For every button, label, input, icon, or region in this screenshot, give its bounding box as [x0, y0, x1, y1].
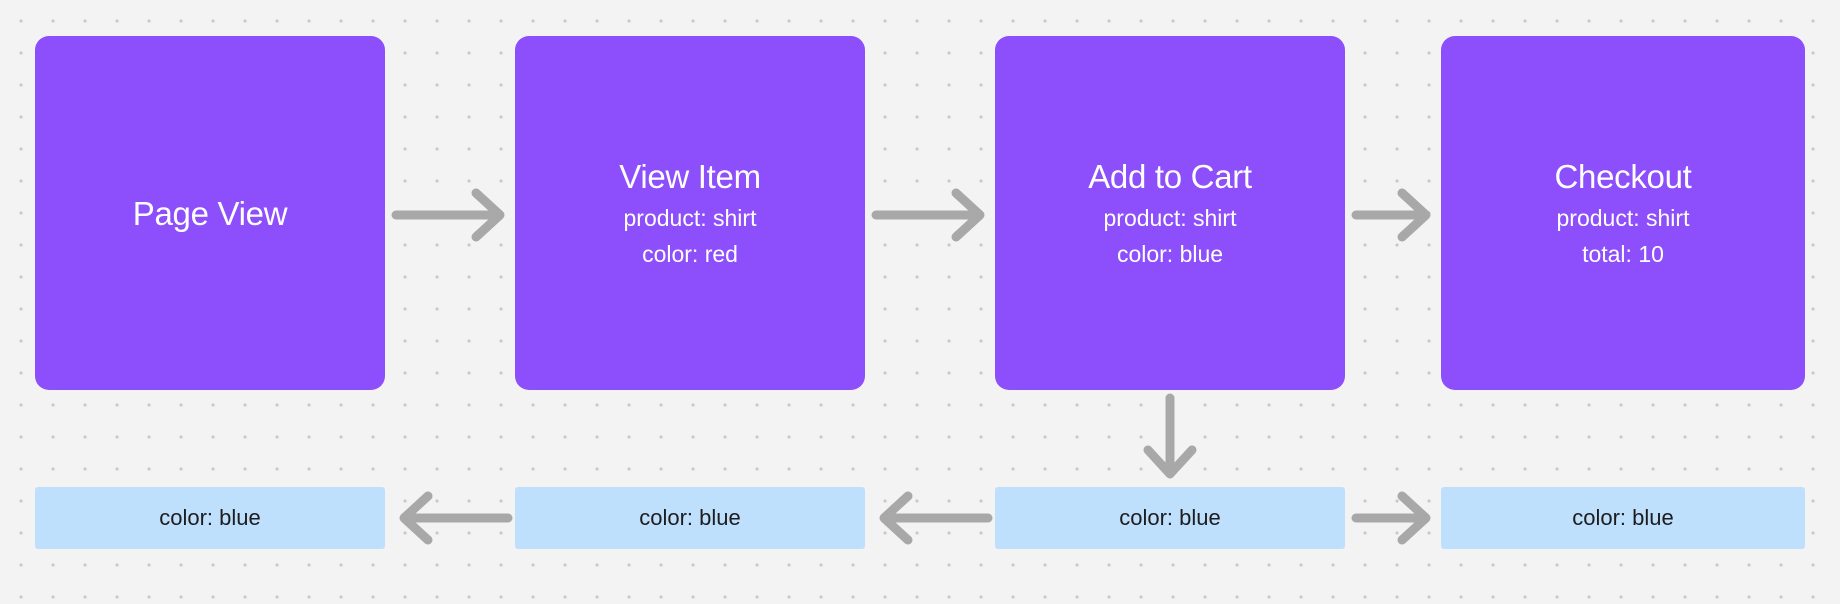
arrow-add-to-cart-to-checkout [1350, 185, 1440, 245]
node-attribute: color: blue [1117, 243, 1223, 266]
flow-canvas[interactable]: Page View View Item product: shirt color… [0, 0, 1840, 604]
node-attribute: product: shirt [624, 207, 757, 230]
property-chip-2[interactable]: color: blue [515, 487, 865, 549]
event-node-checkout[interactable]: Checkout product: shirt total: 10 [1441, 36, 1805, 390]
event-node-view-item[interactable]: View Item product: shirt color: red [515, 36, 865, 390]
node-title: Checkout [1554, 160, 1691, 193]
arrow-page-view-to-view-item [390, 185, 514, 245]
node-content: Add to Cart product: shirt color: blue [1088, 160, 1252, 266]
arrow-add-to-cart-to-chip [1140, 392, 1200, 486]
node-attribute: total: 10 [1582, 243, 1664, 266]
arrow-chip-3-to-chip-2 [870, 488, 994, 548]
property-chip-label: color: blue [159, 505, 261, 531]
arrow-chip-3-to-chip-4 [1350, 488, 1440, 548]
property-chip-label: color: blue [1572, 505, 1674, 531]
property-chip-1[interactable]: color: blue [35, 487, 385, 549]
node-content: Checkout product: shirt total: 10 [1554, 160, 1691, 266]
node-attribute: product: shirt [1557, 207, 1690, 230]
node-title: View Item [619, 160, 761, 193]
event-node-add-to-cart[interactable]: Add to Cart product: shirt color: blue [995, 36, 1345, 390]
property-chip-label: color: blue [639, 505, 741, 531]
node-attribute: product: shirt [1104, 207, 1237, 230]
arrow-chip-2-to-chip-1 [390, 488, 514, 548]
property-chip-label: color: blue [1119, 505, 1221, 531]
event-node-page-view[interactable]: Page View [35, 36, 385, 390]
node-content: View Item product: shirt color: red [619, 160, 761, 266]
node-title: Page View [133, 197, 287, 230]
arrow-view-item-to-add-to-cart [870, 185, 994, 245]
node-content: Page View [133, 197, 287, 230]
node-attribute: color: red [642, 243, 738, 266]
property-chip-4[interactable]: color: blue [1441, 487, 1805, 549]
node-title: Add to Cart [1088, 160, 1252, 193]
property-chip-3[interactable]: color: blue [995, 487, 1345, 549]
